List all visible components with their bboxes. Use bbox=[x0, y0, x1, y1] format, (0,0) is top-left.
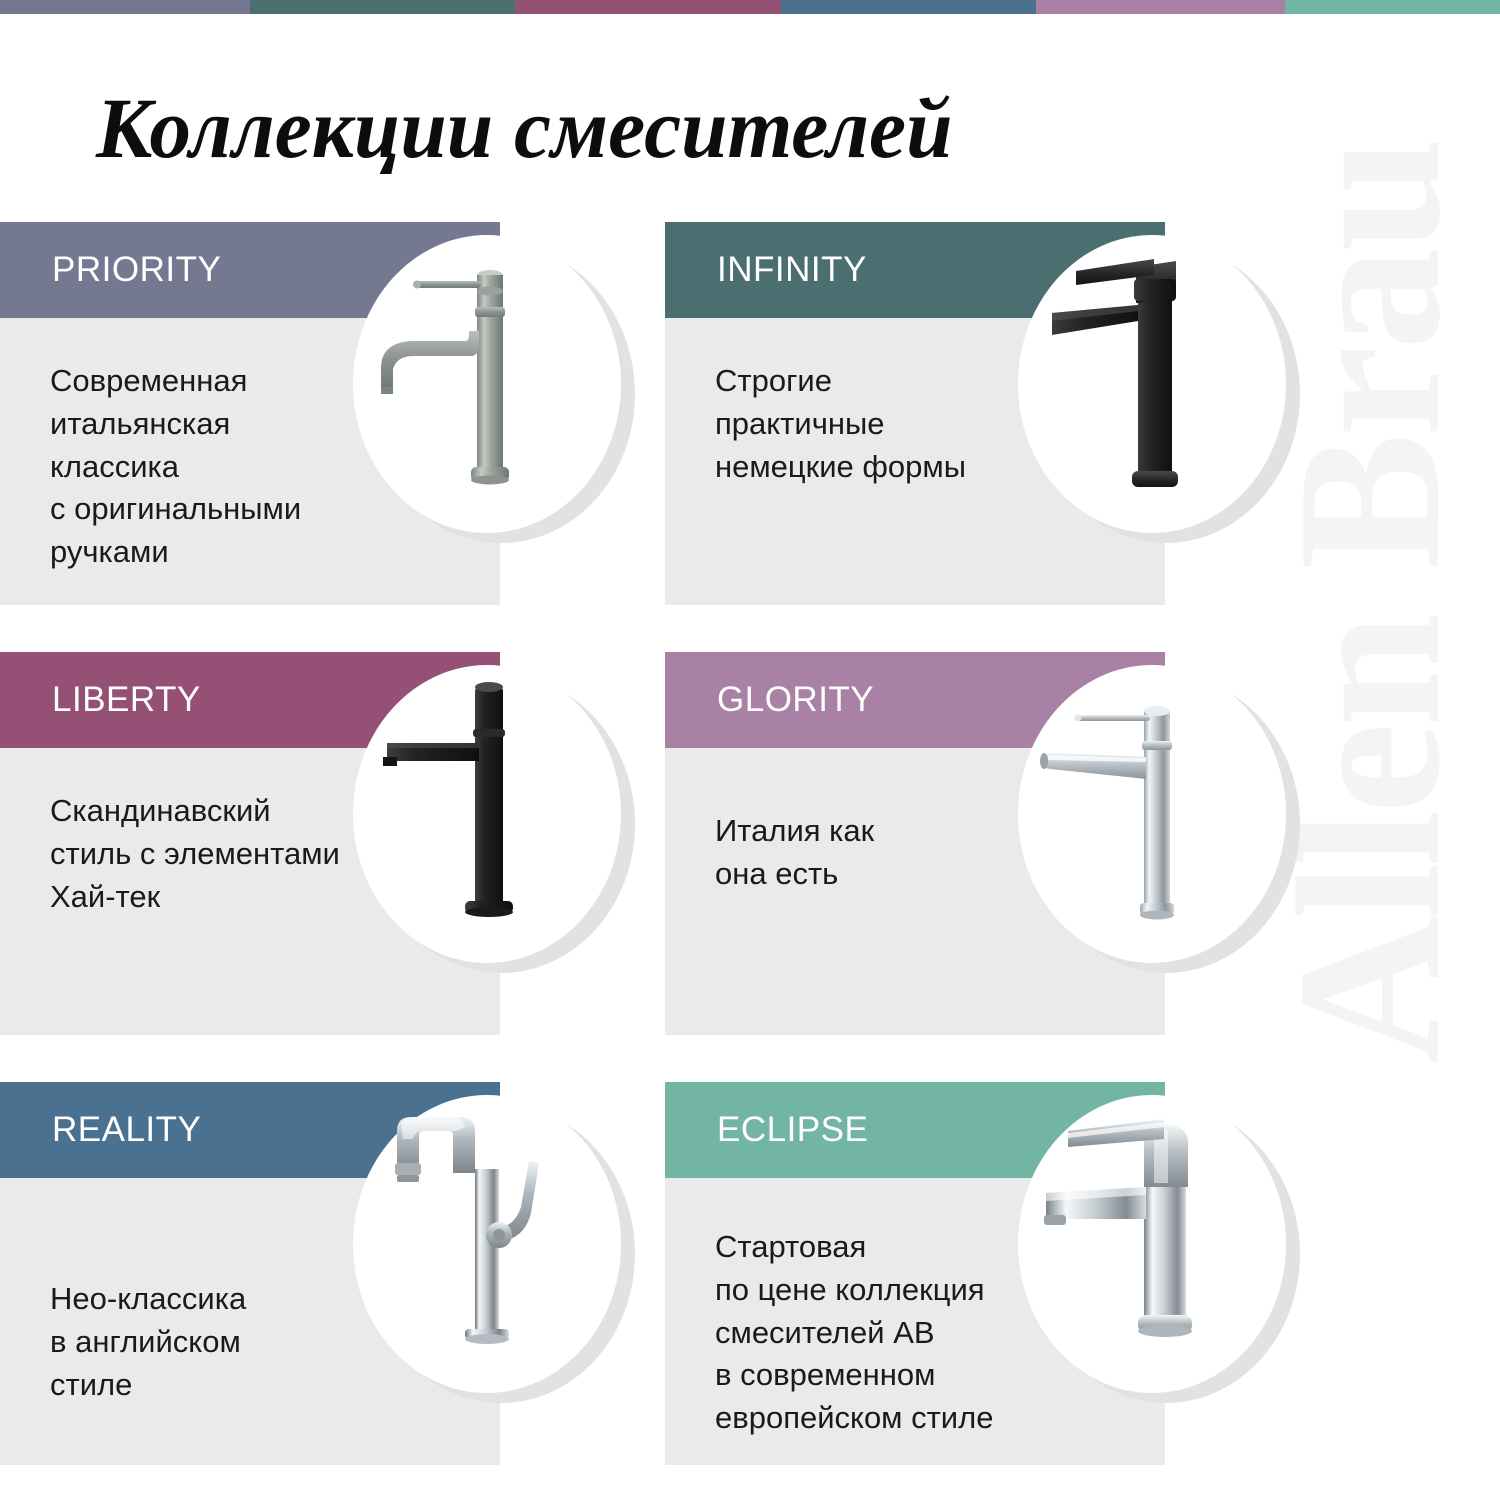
collection-card-reality[interactable]: REALITY Нео-классика в английском стиле bbox=[0, 1082, 500, 1465]
faucet-image-glority bbox=[1018, 665, 1286, 963]
card-title-eclipse: ECLIPSE bbox=[717, 1110, 868, 1150]
collection-card-liberty[interactable]: LIBERTY Скандинавский стиль с элементами… bbox=[0, 652, 500, 1035]
card-title-liberty: LIBERTY bbox=[52, 680, 201, 720]
card-title-glority: GLORITY bbox=[717, 680, 874, 720]
faucet-image-priority bbox=[353, 235, 621, 533]
faucet-icon-liberty bbox=[353, 665, 621, 963]
collection-card-glority[interactable]: GLORITY Италия как она есть bbox=[665, 652, 1165, 1035]
card-title-priority: PRIORITY bbox=[52, 250, 221, 290]
collections-grid: PRIORITY Современная итальянская классик… bbox=[0, 0, 1500, 1500]
card-title-infinity: INFINITY bbox=[717, 250, 867, 290]
faucet-image-reality bbox=[353, 1095, 621, 1393]
faucet-icon-reality bbox=[353, 1095, 621, 1393]
card-title-reality: REALITY bbox=[52, 1110, 201, 1150]
faucet-icon-glority bbox=[1018, 665, 1286, 963]
faucet-image-eclipse bbox=[1018, 1095, 1286, 1393]
collection-card-infinity[interactable]: INFINITY Строгие практичные немецкие фор… bbox=[665, 222, 1165, 605]
faucet-icon-priority bbox=[353, 235, 621, 533]
collection-card-eclipse[interactable]: ECLIPSE Стартовая по цене коллекция смес… bbox=[665, 1082, 1165, 1465]
faucet-icon-eclipse bbox=[1018, 1095, 1286, 1393]
faucet-image-liberty bbox=[353, 665, 621, 963]
faucet-image-infinity bbox=[1018, 235, 1286, 533]
faucet-icon-infinity bbox=[1018, 235, 1286, 533]
collection-card-priority[interactable]: PRIORITY Современная итальянская классик… bbox=[0, 222, 500, 605]
